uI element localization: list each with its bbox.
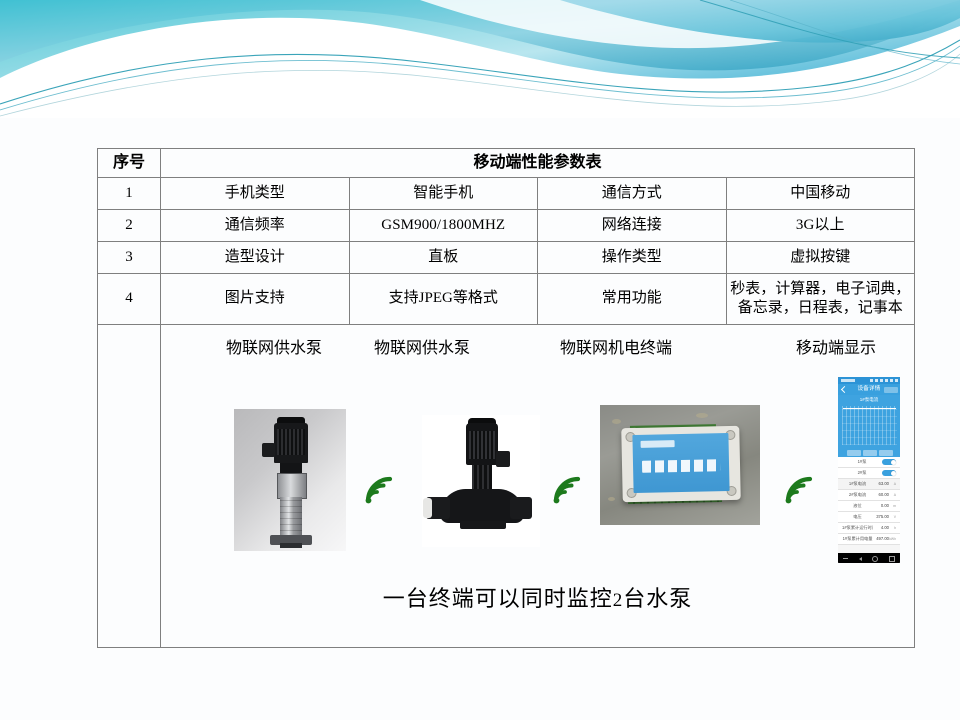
slide-canvas: 序号 移动端性能参数表 1 手机类型 智能手机 通信方式 中国移动 2 通信频率…	[0, 0, 960, 720]
wifi-signal-icon	[364, 475, 398, 505]
decorative-wave-banner	[0, 0, 960, 118]
pump-neck	[280, 463, 302, 473]
param-unit: h	[889, 526, 896, 530]
table-row: 2 通信频率 GSM900/1800MHZ 网络连接 3G以上	[98, 210, 915, 242]
param-name: 1#泵累计运行时间	[842, 525, 873, 530]
iot-terminal-photo	[600, 405, 760, 525]
bottom-caption-prefix: 一台终端可以同时监控	[383, 586, 613, 611]
bottom-caption: 一台终端可以同时监控2台水泵	[164, 585, 911, 613]
recents-nav-icon[interactable]	[889, 556, 895, 562]
row-key-2: 操作类型	[538, 242, 727, 274]
header-cell-no: 序号	[98, 149, 161, 178]
row-value-1: 直板	[349, 242, 538, 274]
pump-foot	[280, 543, 302, 548]
list-item[interactable]: 1#泵	[838, 457, 900, 468]
list-item[interactable]: 电压 375.00 V	[838, 512, 900, 523]
history-button[interactable]	[884, 387, 898, 393]
bottom-caption-suffix: 台水泵	[623, 586, 692, 611]
device-parameter-list: 1#泵 2#泵 1#泵电流 63.00	[838, 457, 900, 553]
param-name: 2#泵电流	[842, 492, 873, 497]
carrier-text	[841, 379, 855, 382]
param-name: 1#泵电流	[842, 481, 873, 486]
param-unit: kWh	[889, 537, 896, 541]
spec-table-wrapper: 序号 移动端性能参数表 1 手机类型 智能手机 通信方式 中国移动 2 通信频率…	[97, 148, 915, 648]
list-item[interactable]: 1#泵电流 63.00 A	[838, 479, 900, 490]
row-no: 4	[98, 274, 161, 325]
row-key-1: 造型设计	[161, 242, 350, 274]
floor-speck	[612, 419, 621, 424]
chart-button-export[interactable]	[879, 450, 893, 456]
param-unit: V	[889, 515, 896, 519]
row-value-1: 智能手机	[349, 178, 538, 210]
terminal-label-text	[642, 459, 720, 473]
back-nav-icon[interactable]	[859, 557, 862, 561]
list-item[interactable]: 液位 0.00 m	[838, 501, 900, 512]
chart-buttons[interactable]	[844, 450, 895, 456]
row-key-2: 常用功能	[538, 274, 727, 325]
android-nav-bar[interactable]	[838, 554, 900, 563]
param-value: 60.00	[873, 492, 889, 497]
wifi-signal-icon	[784, 475, 818, 505]
terminal-logo	[641, 440, 675, 448]
chart-series-line	[843, 408, 896, 409]
home-nav-icon[interactable]	[872, 556, 878, 562]
table-row: 4 图片支持 支持JPEG等格式 常用功能 秒表，计算器，电子词典，备忘录，日程…	[98, 274, 915, 325]
param-value: 4.00	[873, 525, 889, 530]
current-chart: 1#泵电流	[838, 395, 900, 457]
param-name: 液位	[842, 503, 873, 508]
table-header-row: 序号 移动端性能参数表	[98, 149, 915, 178]
pump-toggle[interactable]	[882, 470, 896, 476]
inline-pump-photo	[422, 415, 540, 547]
media-captions: 物联网供水泵 物联网供水泵 物联网机电终端 移动端显示	[164, 339, 911, 363]
menu-icon[interactable]	[843, 558, 848, 559]
media-panel: 物联网供水泵 物联网供水泵 物联网机电终端 移动端显示	[164, 327, 911, 645]
list-item[interactable]: 2#泵电流 60.00 A	[838, 490, 900, 501]
row-key-1: 手机类型	[161, 178, 350, 210]
row-key-1: 通信频率	[161, 210, 350, 242]
row-value-2: 虚拟按键	[726, 242, 915, 274]
caption-pump-1: 物联网供水泵	[226, 339, 322, 359]
row-value-2: 3G以上	[726, 210, 915, 242]
param-unit: m	[889, 504, 896, 508]
param-value: 497.00	[873, 536, 889, 541]
phone-status-bar	[838, 377, 900, 384]
terminal-blue-label	[632, 433, 729, 493]
list-item[interactable]: 1#泵累计用电量 497.00 kWh	[838, 534, 900, 545]
row-value-1: 支持JPEG等格式	[349, 274, 538, 325]
chart-button-realtime[interactable]	[847, 450, 861, 456]
param-name: 1#泵	[842, 459, 882, 464]
media-panel-cell: 物联网供水泵 物联网供水泵 物联网机电终端 移动端显示	[161, 325, 915, 648]
pump-motor	[274, 423, 308, 463]
pump2-motor	[466, 423, 498, 465]
pump-toggle[interactable]	[882, 459, 896, 465]
pump2-base-pad	[460, 521, 506, 529]
floor-speck	[608, 497, 615, 501]
media-row: 物联网供水泵 物联网供水泵 物联网机电终端 移动端显示	[98, 325, 915, 648]
media-row-blank-cell	[98, 325, 161, 648]
row-no: 3	[98, 242, 161, 274]
param-unit: A	[889, 493, 896, 497]
pump2-junction-box	[496, 451, 510, 467]
row-no: 1	[98, 178, 161, 210]
table-row: 1 手机类型 智能手机 通信方式 中国移动	[98, 178, 915, 210]
list-item[interactable]: 1#泵累计运行时间 4.00 h	[838, 523, 900, 534]
param-unit: A	[889, 482, 896, 486]
row-key-1: 图片支持	[161, 274, 350, 325]
param-name: 2#泵	[842, 470, 882, 475]
vertical-pump-photo	[234, 409, 346, 551]
mobile-spec-table: 序号 移动端性能参数表 1 手机类型 智能手机 通信方式 中国移动 2 通信频率…	[97, 148, 915, 648]
param-value: 375.00	[873, 514, 889, 519]
row-value-2: 中国移动	[726, 178, 915, 210]
row-key-2: 网络连接	[538, 210, 727, 242]
pump2-column	[472, 465, 492, 491]
row-value-1: GSM900/1800MHZ	[349, 210, 538, 242]
row-value-2: 秒表，计算器，电子词典，备忘录，日程表，记事本	[726, 274, 915, 325]
list-item[interactable]: 2#泵	[838, 468, 900, 479]
caption-mobile-display: 移动端显示	[796, 339, 876, 359]
chart-title: 1#泵电流	[838, 397, 900, 403]
caption-pump-2: 物联网供水泵	[374, 339, 470, 359]
caption-terminal: 物联网机电终端	[560, 339, 672, 359]
param-name: 1#泵累计用电量	[842, 536, 873, 541]
row-no: 2	[98, 210, 161, 242]
param-value: 0.00	[873, 503, 889, 508]
param-name: 电压	[842, 514, 873, 519]
mobile-app-screenshot: 设备详情 1#泵电流	[838, 377, 900, 563]
wifi-signal-icon	[552, 475, 586, 505]
table-title-cell: 移动端性能参数表	[161, 149, 915, 178]
pump-junction-box	[262, 443, 275, 457]
pump2-flange-right	[510, 497, 532, 519]
pump-lantern	[277, 473, 307, 499]
app-title-bar: 设备详情	[838, 384, 900, 395]
bottom-caption-number: 2	[613, 590, 624, 611]
chart-button-query[interactable]	[863, 450, 877, 456]
status-icons	[870, 379, 898, 382]
param-value: 63.00	[873, 481, 889, 486]
table-row: 3 造型设计 直板 操作类型 虚拟按键	[98, 242, 915, 274]
chart-gridlines	[842, 406, 897, 445]
pump-stage-stack	[280, 497, 302, 537]
floor-speck	[696, 413, 708, 418]
pump2-flange-left	[426, 497, 450, 519]
row-key-2: 通信方式	[538, 178, 727, 210]
